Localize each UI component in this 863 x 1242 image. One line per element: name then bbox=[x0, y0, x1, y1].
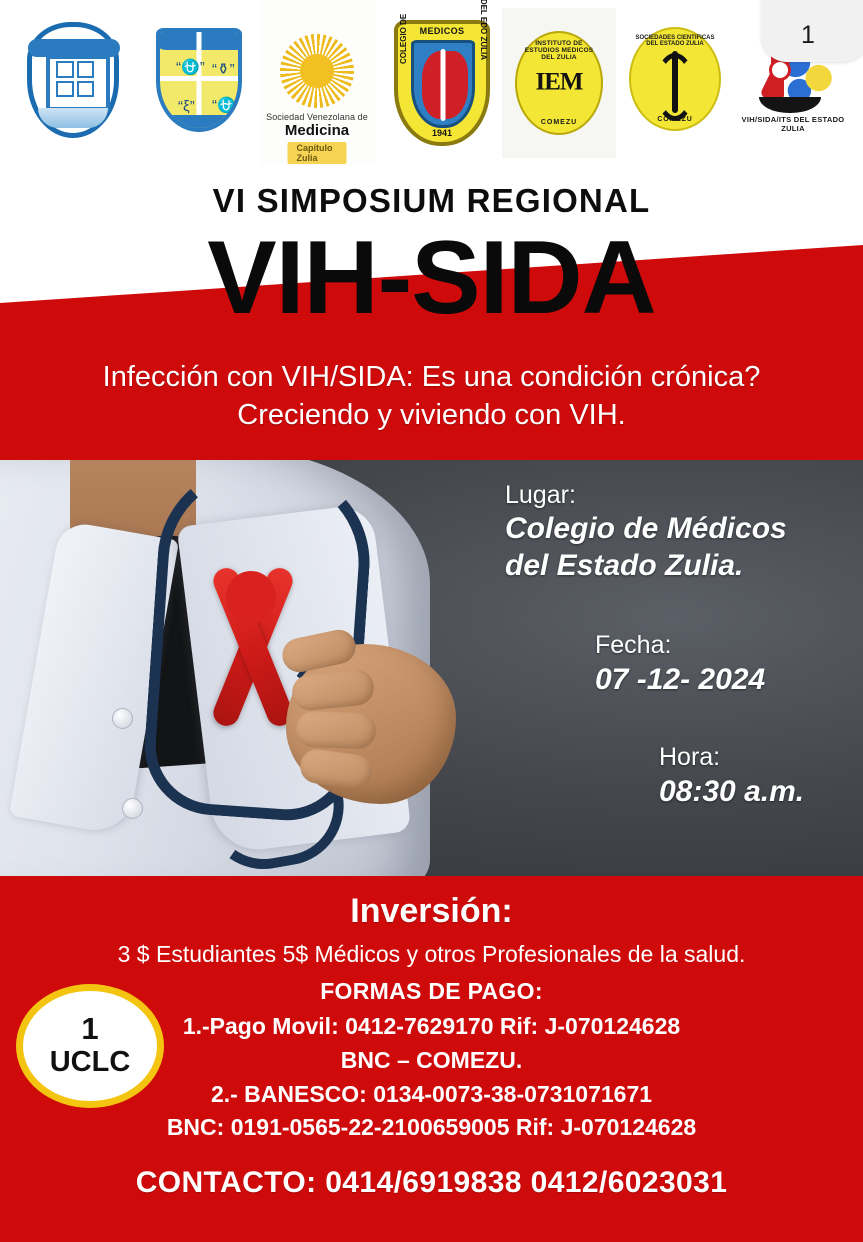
date-label: Fecha: bbox=[595, 630, 829, 661]
time-value: 08:30 a.m. bbox=[659, 774, 829, 811]
logo-sociedad-venezolana-medicina-interna: Sociedad Venezolana de Medicina Interna … bbox=[258, 0, 376, 166]
colmed-right-text: DEL EDO ZULIA bbox=[479, 0, 488, 60]
logo-universidad-del-zulia bbox=[8, 0, 138, 160]
headline-section: VI SIMPOSIUM REGIONAL VIH-SIDA Infección… bbox=[0, 160, 863, 460]
date-value: 07 -12- 2024 bbox=[595, 662, 829, 699]
colmed-year: 1941 bbox=[398, 128, 486, 138]
time-label: Hora: bbox=[659, 742, 829, 773]
hero-photo-band: Lugar: Colegio de Médicos del Estado Zul… bbox=[0, 458, 863, 876]
page-title: VIH-SIDA bbox=[0, 222, 863, 334]
payment-line: BNC: 0191-0565-22-2100659005 Rif: J-0701… bbox=[0, 1111, 863, 1145]
page-indicator-overlay[interactable]: 1 bbox=[761, 0, 863, 62]
event-eyebrow: VI SIMPOSIUM REGIONAL bbox=[0, 182, 863, 220]
event-details-block: Lugar: Colegio de Médicos del Estado Zul… bbox=[499, 480, 829, 810]
sponsor-logo-strip: ⛎ ⚱ ξ ⛎ Sociedad Venezolana de Medicina … bbox=[0, 0, 863, 172]
logo-sociedades-cientificas-zulia: SOCIEDADES CIENTIFICAS DEL ESTADO ZULIA … bbox=[618, 4, 732, 154]
logo-colegio-de-medicos-del-zulia: MEDICOS COLEGIO DE DEL EDO ZULIA 1941 bbox=[382, 0, 502, 166]
iem-ring-bottom-text: COMEZU bbox=[517, 119, 601, 126]
venue-line-2: del Estado Zulia. bbox=[505, 548, 829, 585]
facultad-de-medicina-crest-icon: ⛎ ⚱ ξ ⛎ bbox=[156, 28, 242, 132]
asclepius-snake-icon bbox=[655, 53, 695, 121]
pricing-and-contact-panel: Inversión: 3 $ Estudiantes 5$ Médicos y … bbox=[0, 876, 863, 1242]
contact-line: CONTACTO: 0414/6919838 0412/6023031 bbox=[0, 1166, 863, 1200]
pricing-fees: 3 $ Estudiantes 5$ Médicos y otros Profe… bbox=[0, 941, 863, 968]
comezu-ring-bottom-text: COMEZU bbox=[631, 116, 719, 123]
comezu-ring-top-text: SOCIEDADES CIENTIFICAS DEL ESTADO ZULIA bbox=[631, 35, 719, 47]
coat-button bbox=[112, 708, 133, 729]
venue-block: Lugar: Colegio de Médicos del Estado Zul… bbox=[505, 480, 829, 584]
svmi-line3: Capítulo Zulia bbox=[288, 142, 347, 164]
pricing-heading: Inversión: bbox=[0, 892, 863, 931]
venue-line-1: Colegio de Médicos bbox=[505, 511, 829, 548]
colmed-top-text: MEDICOS bbox=[398, 26, 486, 36]
finger bbox=[295, 711, 376, 750]
colmed-left-text: COLEGIO DE bbox=[399, 14, 408, 64]
universidad-del-zulia-crest-icon bbox=[27, 22, 119, 138]
svmi-line1: Sociedad Venezolana de bbox=[258, 112, 376, 122]
page-number-label: 1 bbox=[761, 21, 855, 50]
venue-label: Lugar: bbox=[505, 480, 829, 511]
logo-facultad-de-medicina: ⛎ ⚱ ξ ⛎ bbox=[140, 0, 258, 160]
poster-root: ⛎ ⚱ ξ ⛎ Sociedad Venezolana de Medicina … bbox=[0, 0, 863, 1242]
credits-badge: 1 UCLC bbox=[16, 984, 164, 1108]
prog-ring-bottom-text: VIH/SIDA/ITS DEL ESTADO ZULIA bbox=[739, 115, 847, 133]
iem-seal-icon: INSTITUTO DE ESTUDIOS MEDICOS DEL ZULIA … bbox=[515, 31, 603, 135]
credits-unit: UCLC bbox=[50, 1046, 131, 1079]
event-subtitle: Infección con VIH/SIDA: Es una condición… bbox=[0, 358, 863, 435]
subtitle-line-2: Creciendo y viviendo con VIH. bbox=[0, 396, 863, 434]
sunburst-icon bbox=[280, 34, 354, 108]
subtitle-line-1: Infección con VIH/SIDA: Es una condición… bbox=[0, 358, 863, 396]
logo-instituto-estudios-medicos: INSTITUTO DE ESTUDIOS MEDICOS DEL ZULIA … bbox=[502, 8, 616, 158]
iem-ring-top-text: INSTITUTO DE ESTUDIOS MEDICOS DEL ZULIA bbox=[517, 40, 601, 61]
colegio-de-medicos-crest-icon: MEDICOS COLEGIO DE DEL EDO ZULIA 1941 bbox=[394, 20, 490, 146]
date-block: Fecha: 07 -12- 2024 bbox=[595, 630, 829, 698]
time-block: Hora: 08:30 a.m. bbox=[659, 742, 829, 810]
iem-acronym: IEM bbox=[517, 68, 601, 96]
coat-button bbox=[122, 798, 143, 819]
credits-number: 1 bbox=[81, 1013, 98, 1044]
comezu-seal-icon: SOCIEDADES CIENTIFICAS DEL ESTADO ZULIA … bbox=[629, 27, 721, 131]
